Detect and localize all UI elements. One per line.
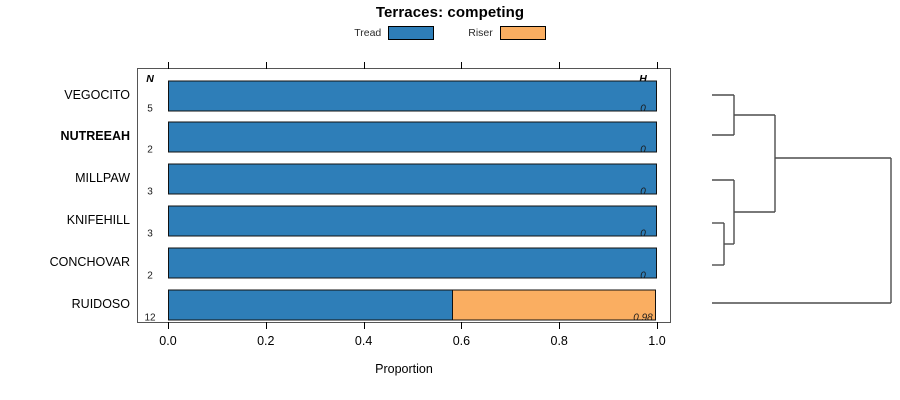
h-value: 0 bbox=[640, 145, 646, 156]
n-value: 3 bbox=[147, 229, 153, 240]
x-tick-top-0 bbox=[168, 62, 169, 69]
x-tick-bottom-2 bbox=[364, 322, 365, 329]
bar-segment-tread bbox=[168, 290, 453, 321]
row-label-knifehill: KNIFEHILL bbox=[0, 213, 130, 227]
row-label-vegocito: VEGOCITO bbox=[0, 88, 130, 102]
bar-row bbox=[168, 290, 657, 321]
bar-segment-tread bbox=[168, 81, 657, 112]
plot-panel: 0.00.20.40.60.81.0 N H 5020303020120.98 bbox=[137, 68, 671, 323]
legend-label-tread: Tread bbox=[354, 27, 381, 39]
h-value: 0 bbox=[640, 104, 646, 115]
x-tick-label-2: 0.4 bbox=[355, 334, 372, 348]
x-tick-top-1 bbox=[266, 62, 267, 69]
dendrogram bbox=[690, 60, 900, 330]
x-tick-label-0: 0.0 bbox=[159, 334, 176, 348]
legend-label-riser: Riser bbox=[468, 27, 493, 39]
h-value: 0 bbox=[640, 187, 646, 198]
x-tick-top-4 bbox=[559, 62, 560, 69]
bar-row bbox=[168, 248, 657, 279]
x-axis-title: Proportion bbox=[137, 362, 671, 376]
column-header-n: N bbox=[146, 73, 154, 85]
bar-segment-tread bbox=[168, 122, 657, 153]
bar-segment-riser bbox=[452, 290, 656, 321]
legend-swatch-tread bbox=[388, 26, 434, 40]
x-tick-label-4: 0.8 bbox=[550, 334, 567, 348]
bar-row bbox=[168, 81, 657, 112]
x-tick-bottom-1 bbox=[266, 322, 267, 329]
n-value: 2 bbox=[147, 271, 153, 282]
row-label-nutreeah: NUTREEAH bbox=[0, 129, 130, 143]
legend-entry-riser: Riser bbox=[468, 26, 546, 40]
x-tick-top-5 bbox=[657, 62, 658, 69]
x-tick-label-5: 1.0 bbox=[648, 334, 665, 348]
n-value: 12 bbox=[144, 313, 155, 324]
bar-row bbox=[168, 206, 657, 237]
n-value: 5 bbox=[147, 104, 153, 115]
h-value: 0 bbox=[640, 271, 646, 282]
row-label-conchovar: CONCHOVAR bbox=[0, 255, 130, 269]
x-tick-bottom-4 bbox=[559, 322, 560, 329]
bar-row bbox=[168, 122, 657, 153]
x-tick-top-2 bbox=[364, 62, 365, 69]
x-tick-label-3: 0.6 bbox=[453, 334, 470, 348]
x-tick-bottom-3 bbox=[461, 322, 462, 329]
h-value: 0.98 bbox=[633, 313, 652, 324]
legend: Tread Riser bbox=[0, 26, 900, 40]
legend-entry-tread: Tread bbox=[354, 26, 434, 40]
row-label-millpaw: MILLPAW bbox=[0, 171, 130, 185]
x-tick-label-1: 0.2 bbox=[257, 334, 274, 348]
h-value: 0 bbox=[640, 229, 646, 240]
x-tick-bottom-5 bbox=[657, 322, 658, 329]
bar-segment-tread bbox=[168, 248, 657, 279]
dendrogram-svg bbox=[690, 60, 900, 330]
page-title: Terraces: competing bbox=[0, 4, 900, 21]
n-value: 3 bbox=[147, 187, 153, 198]
bar-segment-tread bbox=[168, 206, 657, 237]
x-tick-bottom-0 bbox=[168, 322, 169, 329]
n-value: 2 bbox=[147, 145, 153, 156]
bar-segment-tread bbox=[168, 164, 657, 195]
bar-row bbox=[168, 164, 657, 195]
legend-swatch-riser bbox=[500, 26, 546, 40]
row-label-ruidoso: RUIDOSO bbox=[0, 297, 130, 311]
x-tick-top-3 bbox=[461, 62, 462, 69]
